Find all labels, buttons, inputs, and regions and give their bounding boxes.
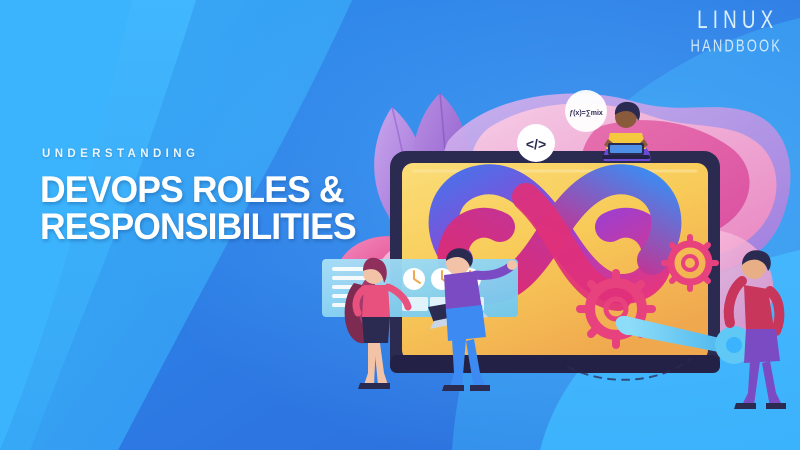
banner-root: </> ƒ(x)=∑mix: [0, 0, 800, 450]
formula-badge-label: ƒ(x)=∑mix: [569, 110, 603, 117]
brand-logo-secondary: HANDBOOK: [691, 37, 783, 54]
page-title: DEVOPS ROLES & RESPONSIBILITIES: [40, 172, 357, 245]
brand-logo[interactable]: LINUX HANDBOOK: [687, 8, 784, 51]
headline-block: UNDERSTANDING DEVOPS ROLES & RESPONSIBIL…: [40, 148, 370, 245]
code-tag-badge: </>: [517, 124, 555, 162]
brand-logo-primary: LINUX: [691, 8, 786, 33]
devops-infinity-illustration: </> ƒ(x)=∑mix: [330, 55, 800, 395]
kicker-text: UNDERSTANDING: [42, 148, 370, 160]
formula-badge: ƒ(x)=∑mix: [565, 90, 607, 132]
code-tag-badge-label: </>: [526, 136, 546, 152]
